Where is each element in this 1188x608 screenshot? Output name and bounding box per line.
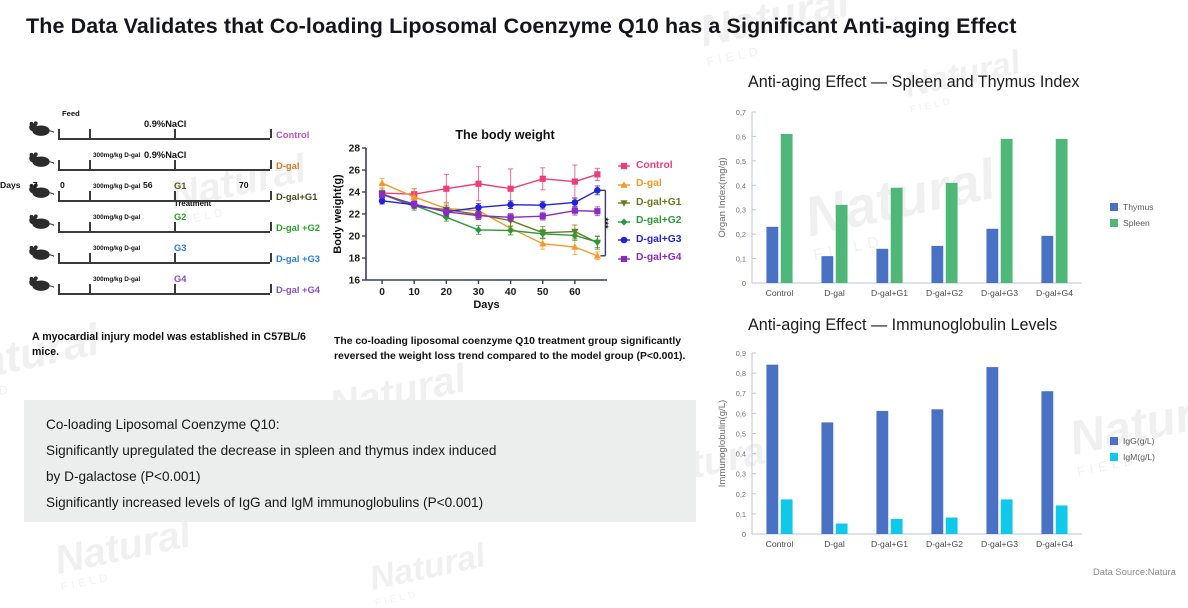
treatment-phase-label: G3 (174, 243, 186, 253)
treatment-phase-label: 0.9%NaCl (144, 150, 186, 160)
bar (766, 227, 778, 283)
days-axis-label: Days (0, 180, 21, 190)
timeline-tick (89, 284, 91, 293)
category-label: D-gal (824, 539, 845, 549)
timeline-axis (58, 169, 270, 171)
conclusion-line: Significantly increased levels of IgG an… (46, 492, 674, 514)
legend-item: D-gal+G3 (618, 230, 682, 249)
legend-swatch-icon (1110, 437, 1118, 445)
day-tick-label: -7 (30, 180, 38, 190)
data-source-label: Data Source:Natura (1093, 566, 1176, 577)
svg-text:0,2: 0,2 (736, 230, 746, 239)
legend-item: Thymus (1110, 199, 1154, 215)
timeline-tick (270, 253, 272, 262)
svg-text:18: 18 (349, 254, 361, 265)
svg-text:0: 0 (379, 287, 385, 298)
legend-label: Control (636, 160, 673, 171)
timeline-row: 300mg/kg D-galG4D-gal +G4 (26, 273, 326, 303)
svg-text:0,1: 0,1 (736, 510, 746, 519)
legend-item: D-gal+G4 (618, 249, 682, 268)
legend-label: Thymus (1123, 202, 1154, 212)
timeline-tick (174, 160, 176, 169)
timeline-axis (58, 293, 270, 295)
page-title: The Data Validates that Co-loading Lipos… (26, 14, 1166, 39)
timeline-tick (270, 129, 272, 138)
bar (821, 422, 833, 534)
svg-text:0,6: 0,6 (736, 409, 746, 418)
svg-text:0,4: 0,4 (736, 450, 746, 459)
svg-text:26: 26 (349, 166, 361, 177)
dose-label: 300mg/kg D-gal (93, 214, 140, 221)
category-label: D-gal+G4 (1036, 288, 1073, 298)
group-label: D-gal +G2 (276, 222, 320, 233)
group-label: D-gal +G4 (276, 284, 320, 295)
legend-marker-icon (618, 215, 630, 227)
timeline-row: Treatment300mg/kg D-gal0.9%NaClD-gal (26, 149, 326, 179)
legend-swatch-icon (1110, 219, 1118, 227)
legend-label: IgG(g/L) (1123, 436, 1155, 446)
bar (836, 524, 848, 534)
svg-text:20: 20 (441, 287, 453, 298)
bar (986, 229, 998, 283)
timeline-tick (174, 222, 176, 231)
svg-text:0: 0 (742, 279, 746, 288)
dose-label: 300mg/kg D-gal (93, 152, 140, 159)
bar (931, 246, 943, 283)
category-label: D-gal+G2 (926, 539, 963, 549)
treatment-phase-label: G2 (174, 212, 186, 222)
timeline-tick (58, 222, 60, 231)
immunoglobulin-chart-title: Anti-aging Effect — Immunoglobulin Level… (748, 316, 1057, 335)
bar (1041, 391, 1053, 534)
day-tick-label: 70 (239, 180, 249, 190)
mouse-icon (28, 151, 54, 169)
category-label: D-gal (824, 288, 845, 298)
svg-text:24: 24 (349, 188, 361, 199)
timeline-tick (58, 253, 60, 262)
svg-text:0: 0 (742, 530, 746, 539)
bar (781, 499, 793, 534)
immunoglobulin-chart: 00,10,20,30,40,50,60,70,80,9Immunoglobul… (712, 345, 1182, 565)
svg-text:22: 22 (349, 210, 361, 221)
body-weight-chart: The body weight 161820222426280102030405… (330, 128, 702, 318)
left-caption: A myocardial injury model was establishe… (32, 330, 317, 360)
svg-text:50: 50 (537, 287, 549, 298)
bar-chart-legend: ThymusSpleen (1110, 199, 1154, 231)
legend-marker-icon (618, 178, 630, 190)
category-label: Control (766, 288, 794, 298)
experimental-design-diagram: Feed0.9%NaClControlTreatment300mg/kg D-g… (26, 118, 326, 313)
svg-text:16: 16 (349, 276, 361, 287)
svg-text:0,3: 0,3 (736, 470, 746, 479)
category-label: Control (766, 539, 794, 549)
legend-marker-icon (618, 196, 630, 208)
treatment-phase-label: G4 (174, 274, 186, 284)
timeline-tick (270, 160, 272, 169)
middle-caption: The co-loading liposomal coenzyme Q10 tr… (334, 334, 700, 364)
legend-item: D-gal (618, 175, 682, 194)
timeline-tick (89, 160, 91, 169)
legend-item: D-gal+G1 (618, 193, 682, 212)
bar (1056, 139, 1068, 283)
line-series (378, 178, 600, 259)
bar (876, 249, 888, 283)
group-label: D-gal (276, 160, 299, 171)
svg-text:Body weight(g): Body weight(g) (332, 174, 344, 254)
timeline-tick (89, 253, 91, 262)
legend-label: IgM(g/L) (1123, 452, 1155, 462)
bar (836, 205, 848, 283)
bar (931, 409, 943, 534)
legend-label: D-gal+G3 (636, 234, 682, 245)
conclusion-line: Co-loading Liposomal Coenzyme Q10: (46, 414, 674, 436)
timeline-axis (58, 262, 270, 264)
svg-text:Organ Index(mg/g): Organ Index(mg/g) (717, 157, 728, 238)
line-chart-legend: ControlD-galD-gal+G1D-gal+G2D-gal+G3D-ga… (618, 156, 682, 267)
watermark: NaturalFIELD (366, 536, 491, 608)
category-label: D-gal+G4 (1036, 539, 1073, 549)
timeline-row: Feed0.9%NaClControl (26, 118, 326, 148)
bar (781, 134, 793, 283)
legend-marker-icon (618, 159, 630, 171)
svg-text:30: 30 (473, 287, 485, 298)
bar (1001, 139, 1013, 283)
mouse-icon (28, 244, 54, 262)
bar (946, 183, 958, 283)
spleen-thymus-chart: 00,10,20,30,40,50,60,7Organ Index(mg/g)C… (712, 104, 1182, 314)
line-chart-title: The body weight (390, 128, 620, 142)
timeline-row: 300mg/kg D-galG2D-gal +G2 (26, 211, 326, 241)
spleen-thymus-chart-title: Anti-aging Effect — Spleen and Thymus In… (748, 73, 1079, 92)
legend-marker-icon (618, 252, 630, 264)
svg-text:40: 40 (505, 287, 517, 298)
bar (946, 518, 958, 534)
svg-text:Days: Days (473, 299, 499, 310)
legend-item: IgM(g/L) (1110, 449, 1155, 465)
legend-item: Spleen (1110, 215, 1154, 231)
mouse-icon (28, 275, 54, 293)
timeline-tick (174, 129, 176, 138)
legend-label: D-gal (636, 178, 662, 189)
feed-label: Feed (62, 109, 80, 118)
timeline-tick (58, 160, 60, 169)
mouse-icon (28, 213, 54, 231)
timeline-tick (270, 284, 272, 293)
legend-marker-icon (618, 233, 630, 245)
category-label: D-gal+G3 (981, 539, 1018, 549)
timeline-tick (58, 284, 60, 293)
svg-text:***: *** (599, 218, 610, 229)
category-label: D-gal+G3 (981, 288, 1018, 298)
svg-text:Immunoglobulin(g/L): Immunoglobulin(g/L) (717, 400, 728, 487)
dose-label: 300mg/kg D-gal (93, 276, 140, 283)
legend-swatch-icon (1110, 453, 1118, 461)
conclusion-box: Co-loading Liposomal Coenzyme Q10:Signif… (24, 400, 696, 522)
svg-text:0,2: 0,2 (736, 490, 746, 499)
group-label: Control (276, 129, 309, 140)
timeline-axis (58, 231, 270, 233)
timeline-tick (89, 129, 91, 138)
line-chart-plot: 161820222426280102030405060DaysBody weig… (330, 142, 615, 315)
timeline-tick (174, 253, 176, 262)
svg-text:0,3: 0,3 (736, 206, 746, 215)
timeline-axis (58, 200, 270, 202)
dose-label: 300mg/kg D-gal (93, 245, 140, 252)
bar (891, 188, 903, 283)
svg-text:60: 60 (569, 287, 581, 298)
bar (986, 367, 998, 534)
svg-text:0,7: 0,7 (736, 108, 746, 117)
timeline-tick (174, 284, 176, 293)
svg-text:0,5: 0,5 (736, 157, 746, 166)
group-label: D-gal +G3 (276, 253, 320, 264)
bar-chart-legend: IgG(g/L)IgM(g/L) (1110, 433, 1155, 465)
mouse-icon (28, 120, 54, 138)
day-tick-label: 0 (60, 180, 65, 190)
legend-item: IgG(g/L) (1110, 433, 1155, 449)
legend-label: D-gal+G2 (636, 215, 682, 226)
timeline-tick (58, 129, 60, 138)
timeline-days-axis: Days-705670 (0, 180, 300, 194)
watermark: NaturalFIELD (0, 315, 106, 407)
legend-label: Spleen (1123, 218, 1150, 228)
treatment-phase-label: 0.9%NaCl (144, 119, 186, 129)
bar (1056, 505, 1068, 534)
legend-label: D-gal+G1 (636, 197, 682, 208)
conclusion-line: by D-galactose (P<0.001) (46, 466, 674, 488)
svg-text:0,8: 0,8 (736, 369, 746, 378)
timeline-tick (89, 222, 91, 231)
svg-text:0,7: 0,7 (736, 389, 746, 398)
timeline-row: 300mg/kg D-galG3D-gal +G3 (26, 242, 326, 272)
bar (766, 365, 778, 534)
bar (1041, 236, 1053, 283)
significance-bracket: *** (599, 190, 610, 255)
svg-text:0,4: 0,4 (736, 181, 746, 190)
day-tick-label: 56 (143, 180, 153, 190)
legend-item: Control (618, 156, 682, 175)
bar (891, 519, 903, 534)
svg-text:0,9: 0,9 (736, 349, 746, 358)
svg-text:0,6: 0,6 (736, 132, 746, 141)
bar (876, 411, 888, 534)
category-label: D-gal+G1 (871, 288, 908, 298)
svg-text:0,5: 0,5 (736, 429, 746, 438)
svg-text:0,1: 0,1 (736, 255, 746, 264)
watermark: NaturalFIELD (51, 511, 197, 594)
svg-text:28: 28 (349, 144, 361, 155)
category-label: D-gal+G1 (871, 539, 908, 549)
timeline-axis (58, 138, 270, 140)
conclusion-line: Significantly upregulated the decrease i… (46, 440, 674, 462)
category-label: D-gal+G2 (926, 288, 963, 298)
timeline-tick (270, 222, 272, 231)
bar (821, 256, 833, 283)
legend-item: D-gal+G2 (618, 212, 682, 231)
svg-text:10: 10 (409, 287, 421, 298)
svg-text:20: 20 (349, 232, 361, 243)
bar (1001, 499, 1013, 534)
legend-swatch-icon (1110, 203, 1118, 211)
legend-label: D-gal+G4 (636, 252, 682, 263)
